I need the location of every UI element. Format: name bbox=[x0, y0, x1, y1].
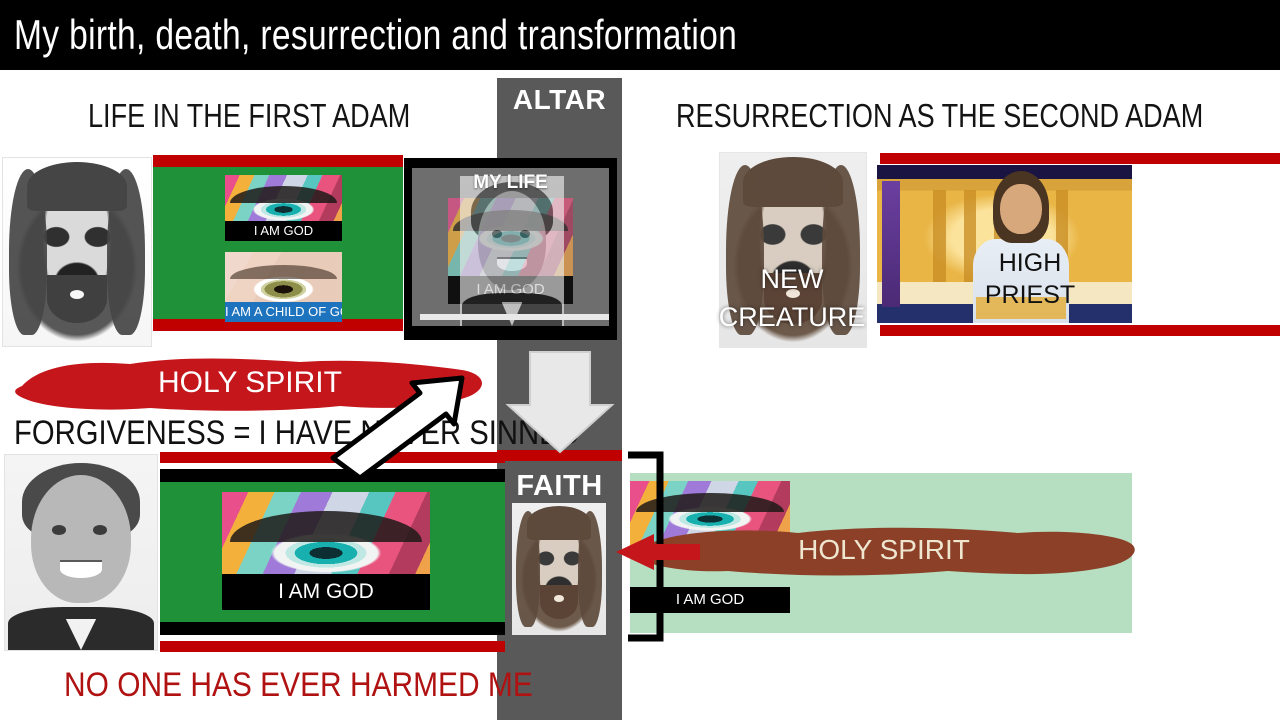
holy-spirit-red-blob: HOLY SPIRIT bbox=[10, 352, 490, 414]
my-life-base-strip bbox=[420, 314, 609, 320]
red-band-top-right bbox=[880, 153, 1280, 164]
forgiveness-statement: FORGIVENESS = I HAVE NEVER SINNED bbox=[14, 414, 580, 453]
eye-card-caption: I AM GOD bbox=[225, 221, 342, 241]
red-band-bottom-left-upper bbox=[160, 452, 505, 463]
eye-card-caption: I AM A CHILD OF GOD bbox=[225, 302, 342, 322]
eye-card-i-am-a-child-of-god: I AM A CHILD OF GOD bbox=[225, 252, 342, 322]
red-band-top-left bbox=[153, 155, 403, 167]
my-life-box: I AM GOD MY LIFE bbox=[404, 158, 617, 340]
high-priest-label-line1: HIGH bbox=[970, 248, 1090, 279]
new-creature-label-line2: CREATURE bbox=[712, 300, 872, 334]
jesus-watercolor-art-faith bbox=[512, 503, 606, 635]
eye-card-caption: I AM GOD bbox=[222, 574, 430, 610]
header-resurrection-second-adam: RESURRECTION AS THE SECOND ADAM bbox=[676, 97, 1203, 135]
holy-spirit-brown-blob-label: HOLY SPIRIT bbox=[798, 534, 970, 566]
holy-spirit-brown-blob: HOLY SPIRIT bbox=[628, 519, 1140, 581]
header-life-in-first-adam: LIFE IN THE FIRST ADAM bbox=[88, 97, 410, 135]
black-band-bottom-left-upper bbox=[160, 469, 505, 482]
altar-label: ALTAR bbox=[497, 84, 622, 116]
red-band-bottom-right-top-group bbox=[880, 325, 1280, 336]
eye-card-bottom-right-caption: I AM GOD bbox=[630, 587, 790, 613]
title-bar: My birth, death, resurrection and transf… bbox=[0, 0, 1280, 70]
jesus-watercolor-art bbox=[3, 158, 151, 346]
no-one-harmed-statement: NO ONE HAS EVER HARMED ME bbox=[64, 666, 533, 705]
eye-card-bottom-left: I AM GOD bbox=[222, 492, 430, 610]
red-band-bottom-left-lower bbox=[160, 641, 505, 652]
my-life-title: MY LIFE bbox=[412, 172, 609, 194]
slide-canvas: My birth, death, resurrection and transf… bbox=[0, 0, 1280, 720]
faith-label: FAITH bbox=[497, 470, 622, 503]
page-title: My birth, death, resurrection and transf… bbox=[14, 8, 737, 62]
jesus-portrait-top-left bbox=[2, 157, 152, 347]
high-priest-label-line2: PRIEST bbox=[963, 280, 1097, 311]
my-life-inner: I AM GOD MY LIFE bbox=[412, 168, 609, 326]
holy-spirit-red-blob-label: HOLY SPIRIT bbox=[158, 366, 342, 400]
new-creature-label-line1: NEW bbox=[719, 262, 865, 296]
man-portrait-bottom-left bbox=[4, 454, 158, 651]
my-life-portrait bbox=[460, 176, 564, 326]
red-band-altar bbox=[497, 450, 622, 461]
jesus-portrait-faith bbox=[512, 503, 606, 635]
eye-card-i-am-god: I AM GOD bbox=[225, 175, 342, 241]
black-band-bottom-left-lower bbox=[160, 622, 505, 635]
man-portrait-art bbox=[5, 455, 157, 650]
